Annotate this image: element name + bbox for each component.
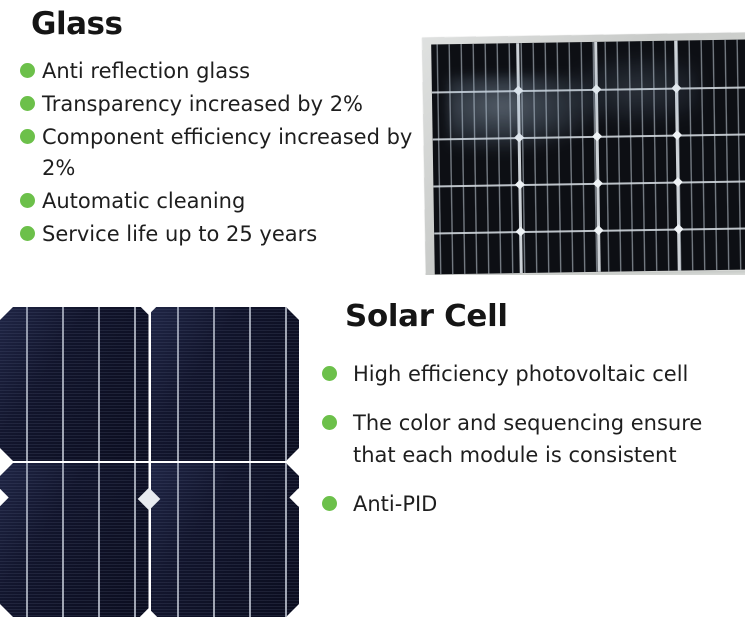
bullet-dot-icon: [20, 129, 35, 144]
list-item: Transparency increased by 2%: [20, 89, 420, 120]
bullet-dot-icon: [322, 496, 337, 511]
solar-cells-photo: [0, 303, 299, 620]
list-item: The color and sequencing ensure that eac…: [322, 407, 737, 471]
glass-section-title: Glass: [31, 6, 122, 42]
bullet-dot-icon: [20, 193, 35, 208]
cell-sheen: [151, 307, 300, 461]
bullet-dot-icon: [20, 96, 35, 111]
solar-cell-bullet-text: High efficiency photovoltaic cell: [322, 358, 737, 390]
list-item: High efficiency photovoltaic cell: [322, 358, 737, 390]
bullet-dot-icon: [20, 63, 35, 78]
panel-glass-surface: [431, 39, 745, 274]
solar-cell: [0, 463, 149, 617]
glass-bullet-text: Component efficiency increased by 2%: [20, 122, 420, 184]
glass-bullet-text: Service life up to 25 years: [20, 219, 420, 250]
list-item: Component efficiency increased by 2%: [20, 122, 420, 184]
solar-cell-bullet-text: The color and sequencing ensure that eac…: [322, 407, 737, 471]
cell-sheen: [0, 463, 149, 617]
glass-bullet-text: Transparency increased by 2%: [20, 89, 420, 120]
glass-bullet-text: Automatic cleaning: [20, 186, 420, 217]
list-item: Service life up to 25 years: [20, 219, 420, 250]
cell-sheen: [151, 463, 300, 617]
panel-glare-reflection: [565, 54, 700, 125]
list-item: Anti reflection glass: [20, 56, 420, 87]
panel-frame: [422, 32, 745, 275]
bullet-dot-icon: [20, 226, 35, 241]
solar-cell-feature-list: High efficiency photovoltaic cell The co…: [322, 358, 737, 537]
glass-bullet-text: Anti reflection glass: [20, 56, 420, 87]
list-item: Automatic cleaning: [20, 186, 420, 217]
list-item: Anti-PID: [322, 488, 737, 520]
solar-cell-section-title: Solar Cell: [345, 299, 508, 334]
cell-sheen: [0, 307, 149, 461]
bullet-dot-icon: [322, 366, 337, 381]
solar-panel-photo: [419, 27, 745, 275]
solar-cell-grid: [0, 307, 299, 617]
bullet-dot-icon: [322, 415, 337, 430]
solar-cell: [151, 463, 300, 617]
solar-cell: [0, 307, 149, 461]
solar-cell: [151, 307, 300, 461]
solar-cell-bullet-text: Anti-PID: [322, 488, 737, 520]
glass-feature-list: Anti reflection glass Transparency incre…: [20, 56, 420, 252]
